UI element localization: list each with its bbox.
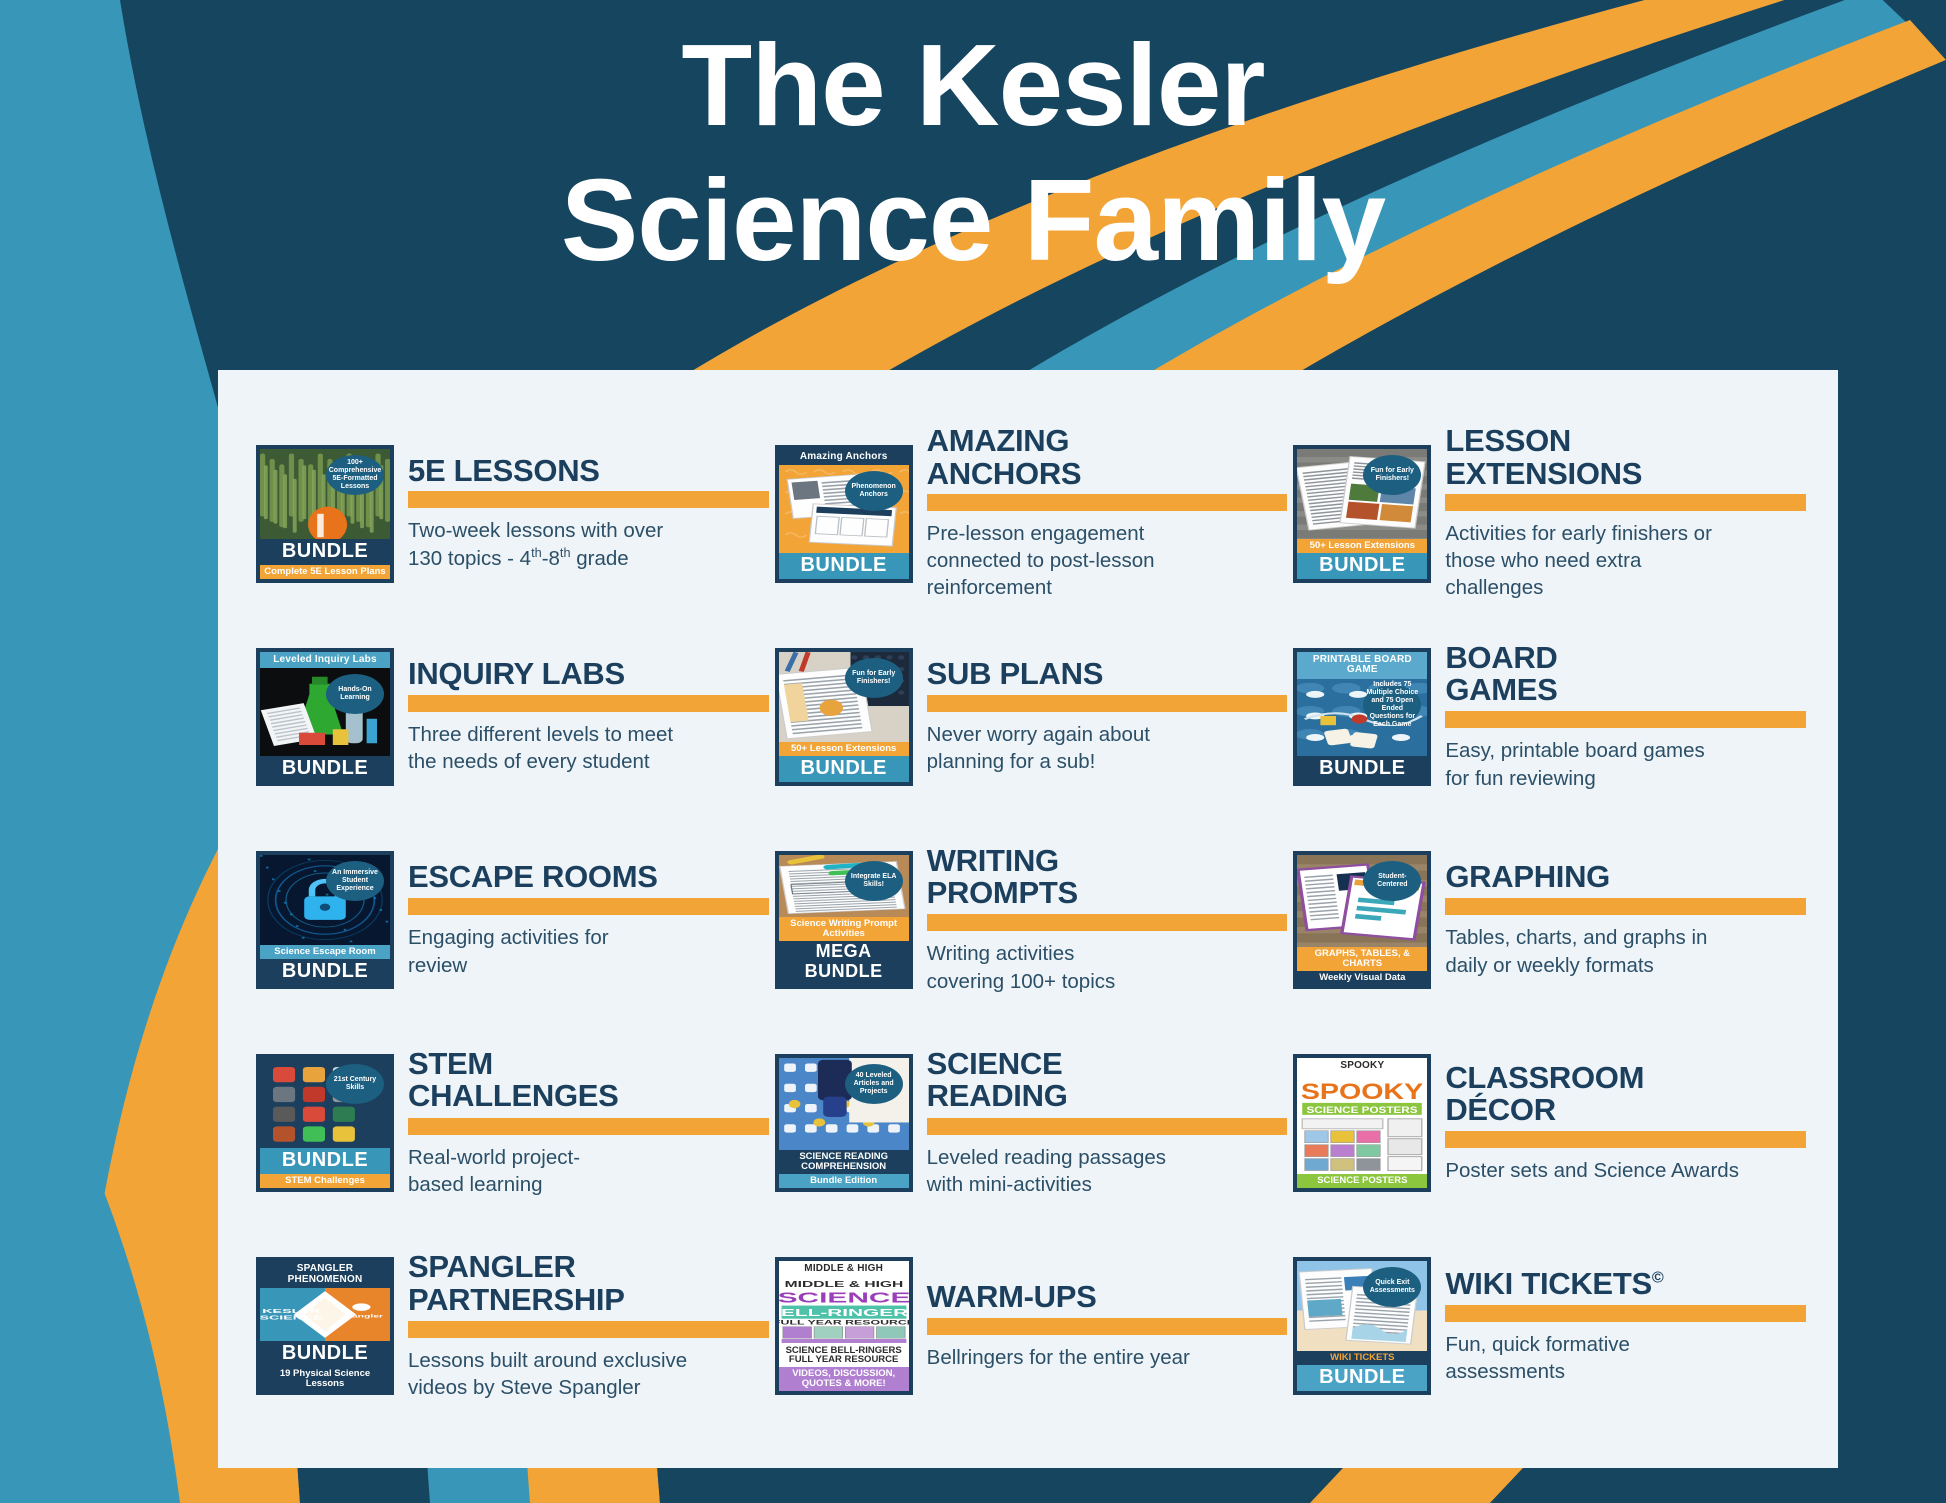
- product-description: Leveled reading passages with mini-activ…: [927, 1144, 1288, 1199]
- product-description: Activities for early finishers or those …: [1445, 520, 1806, 602]
- thumbnail-strip-label: WIKI TICKETS: [1297, 1351, 1427, 1365]
- product-thumbnail[interactable]: Quick Exit AssessmentsWIKI TICKETSBUNDLE: [1293, 1257, 1431, 1395]
- product-thumbnail[interactable]: MIDDLE & HIGH MIDDLE & HIGH SCIENCE BELL…: [775, 1257, 913, 1395]
- thumbnail-sub-label: Complete 5E Lesson Plans: [260, 565, 390, 579]
- thumbnail-artwork: 21st Century Skills: [260, 1058, 390, 1148]
- svg-text:MIDDLE & HIGH: MIDDLE & HIGH: [784, 1280, 903, 1289]
- thumbnail-artwork: SPOOKY SCIENCE POSTERS: [1297, 1075, 1427, 1175]
- product-description: Three different levels to meet the needs…: [408, 721, 769, 776]
- thumbnail-artwork: 100+ Comprehensive 5E-Formatted Lessons: [260, 449, 390, 539]
- thumbnail-strip-label: SCIENCE POSTERS: [1297, 1174, 1427, 1188]
- product-text-block: WIKI TICKETS©Fun, quick formative assess…: [1445, 1268, 1806, 1386]
- product-text-block: WARM-UPSBellringers for the entire year: [927, 1281, 1288, 1371]
- accent-rule: [408, 491, 769, 508]
- product-thumbnail[interactable]: Integrate ELA Skills!Science Writing Pro…: [775, 851, 913, 989]
- product-text-block: BOARD GAMESEasy, printable board games f…: [1445, 642, 1806, 792]
- thumbnail-top-label: MIDDLE & HIGH: [779, 1261, 909, 1278]
- accent-rule: [1445, 1131, 1806, 1148]
- product-thumbnail[interactable]: PRINTABLE BOARD GAME Includes 75 Multipl…: [1293, 648, 1431, 786]
- thumbnail-artwork: Fun for Early Finishers!: [1297, 449, 1427, 539]
- product-description: Bellringers for the entire year: [927, 1344, 1288, 1371]
- accent-rule: [408, 898, 769, 915]
- product-card[interactable]: 21st Century SkillsBUNDLESTEM Challenges…: [256, 1022, 775, 1225]
- product-text-block: SUB PLANSNever worry again about plannin…: [927, 658, 1288, 776]
- thumbnail-strip-label: Science Escape Room: [260, 945, 390, 959]
- product-description: Pre-lesson engagement connected to post-…: [927, 520, 1288, 602]
- svg-text:SCIENCE: SCIENCE: [260, 1315, 323, 1321]
- product-title: WARM-UPS: [927, 1281, 1288, 1313]
- product-title: LESSON EXTENSIONS: [1445, 425, 1806, 489]
- product-title: WIKI TICKETS©: [1445, 1268, 1806, 1300]
- thumbnail-artwork: Hands-On Learning: [260, 668, 390, 756]
- product-title: SCIENCE READING: [927, 1048, 1288, 1112]
- thumbnail-bundle-label: BUNDLE: [1297, 1365, 1427, 1391]
- thumbnail-bundle-label: BUNDLE: [260, 959, 390, 985]
- product-thumbnail[interactable]: Amazing Anchors Phenomenon AnchorsBUNDLE: [775, 445, 913, 583]
- product-thumbnail[interactable]: An Immersive Student ExperienceScience E…: [256, 851, 394, 989]
- accent-rule: [408, 695, 769, 712]
- product-card[interactable]: SPOOKY SPOOKY SCIENCE POSTERS SCIENCE PO…: [1293, 1022, 1812, 1225]
- thumbnail-badge: Phenomenon Anchors: [845, 471, 903, 511]
- product-title: ESCAPE ROOMS: [408, 861, 769, 893]
- thumbnail-sub-label: VIDEOS, DISCUSSION, QUOTES & MORE!: [779, 1367, 909, 1391]
- thumbnail-badge: Fun for Early Finishers!: [1363, 455, 1421, 495]
- product-description: Easy, printable board games for fun revi…: [1445, 737, 1806, 792]
- thumbnail-bundle-label: BUNDLE: [779, 756, 909, 782]
- product-thumbnail[interactable]: Leveled Inquiry Labs Hands-On LearningBU…: [256, 648, 394, 786]
- thumbnail-sub-label: 19 Physical Science Lessons: [260, 1367, 390, 1391]
- product-title: SPANGLER PARTNERSHIP: [408, 1251, 769, 1315]
- thumbnail-bundle-label: BUNDLE: [260, 1341, 390, 1367]
- product-description: Poster sets and Science Awards: [1445, 1157, 1806, 1184]
- product-title: CLASSROOM DÉCOR: [1445, 1062, 1806, 1126]
- thumbnail-artwork: Includes 75 Multiple Choice and 75 Open …: [1297, 679, 1427, 756]
- product-title: STEM CHALLENGES: [408, 1048, 769, 1112]
- product-description: Real-world project- based learning: [408, 1144, 769, 1199]
- product-thumbnail[interactable]: Student-CenteredGRAPHS, TABLES, & CHARTS…: [1293, 851, 1431, 989]
- product-title: INQUIRY LABS: [408, 658, 769, 690]
- thumbnail-badge: Integrate ELA Skills!: [845, 861, 903, 901]
- product-description: Tables, charts, and graphs in daily or w…: [1445, 924, 1806, 979]
- thumbnail-artwork: Quick Exit Assessments: [1297, 1261, 1427, 1351]
- thumbnail-artwork: Integrate ELA Skills!: [779, 855, 909, 917]
- product-description: Never worry again about planning for a s…: [927, 721, 1288, 776]
- product-card[interactable]: Amazing Anchors Phenomenon AnchorsBUNDLE…: [775, 412, 1294, 615]
- product-card[interactable]: Integrate ELA Skills!Science Writing Pro…: [775, 818, 1294, 1021]
- product-text-block: INQUIRY LABSThree different levels to me…: [408, 658, 769, 776]
- thumbnail-artwork: 40 Leveled Articles and Projects: [779, 1058, 909, 1150]
- accent-rule: [1445, 711, 1806, 728]
- product-thumbnail[interactable]: 100+ Comprehensive 5E-Formatted LessonsB…: [256, 445, 394, 583]
- product-text-block: CLASSROOM DÉCORPoster sets and Science A…: [1445, 1062, 1806, 1185]
- svg-text:SPOOKY: SPOOKY: [1301, 1080, 1423, 1104]
- product-card[interactable]: Leveled Inquiry Labs Hands-On LearningBU…: [256, 615, 775, 818]
- accent-rule: [927, 914, 1288, 931]
- thumbnail-top-label: SPANGLER PHENOMENON: [260, 1261, 390, 1288]
- thumbnail-sub-label: Bundle Edition: [779, 1174, 909, 1188]
- product-thumbnail[interactable]: SPANGLER PHENOMENON KESLER SCIENCE spang…: [256, 1257, 394, 1395]
- product-card[interactable]: 40 Leveled Articles and ProjectsSCIENCE …: [775, 1022, 1294, 1225]
- product-card[interactable]: An Immersive Student ExperienceScience E…: [256, 818, 775, 1021]
- product-title: BOARD GAMES: [1445, 642, 1806, 706]
- product-card[interactable]: Fun for Early Finishers!50+ Lesson Exten…: [775, 615, 1294, 818]
- product-thumbnail[interactable]: 21st Century SkillsBUNDLESTEM Challenges: [256, 1054, 394, 1192]
- thumbnail-bundle-label: MEGA BUNDLE: [779, 941, 909, 985]
- thumbnail-bundle-label: BUNDLE: [260, 756, 390, 782]
- thumbnail-badge: An Immersive Student Experience: [326, 861, 384, 901]
- accent-rule: [408, 1118, 769, 1135]
- product-description: Two-week lessons with over 130 topics - …: [408, 517, 769, 572]
- product-text-block: LESSON EXTENSIONSActivities for early fi…: [1445, 425, 1806, 601]
- thumbnail-badge: 40 Leveled Articles and Projects: [845, 1064, 903, 1104]
- product-title: AMAZING ANCHORS: [927, 425, 1288, 489]
- thumbnail-sub-label: Weekly Visual Data: [1297, 971, 1427, 985]
- product-text-block: ESCAPE ROOMSEngaging activities for revi…: [408, 861, 769, 979]
- svg-text:SCIENCE: SCIENCE: [779, 1289, 909, 1306]
- product-description: Lessons built around exclusive videos by…: [408, 1347, 769, 1402]
- thumbnail-strip-label: 50+ Lesson Extensions: [779, 742, 909, 756]
- product-text-block: AMAZING ANCHORSPre-lesson engagement con…: [927, 425, 1288, 601]
- accent-rule: [1445, 1305, 1806, 1322]
- thumbnail-badge: Student-Centered: [1363, 861, 1421, 901]
- accent-rule: [927, 1318, 1288, 1335]
- product-card[interactable]: Quick Exit AssessmentsWIKI TICKETSBUNDLE…: [1293, 1225, 1812, 1428]
- thumbnail-artwork: KESLER SCIENCE spangler: [260, 1288, 390, 1341]
- thumbnail-artwork: An Immersive Student Experience: [260, 855, 390, 945]
- svg-text:FULL YEAR RESOURCE: FULL YEAR RESOURCE: [779, 1319, 909, 1326]
- thumbnail-sub-label: STEM Challenges: [260, 1174, 390, 1188]
- product-title: GRAPHING: [1445, 861, 1806, 893]
- accent-rule: [408, 1321, 769, 1338]
- thumbnail-strip-label: GRAPHS, TABLES, & CHARTS: [1297, 947, 1427, 971]
- thumbnail-bundle-label: BUNDLE: [260, 1148, 390, 1174]
- product-text-block: SPANGLER PARTNERSHIPLessons built around…: [408, 1251, 769, 1401]
- thumbnail-bundle-label: BUNDLE: [1297, 756, 1427, 782]
- thumbnail-top-label: PRINTABLE BOARD GAME: [1297, 652, 1427, 679]
- product-thumbnail[interactable]: Fun for Early Finishers!50+ Lesson Exten…: [1293, 445, 1431, 583]
- content-panel: 100+ Comprehensive 5E-Formatted LessonsB…: [218, 370, 1838, 1468]
- thumbnail-artwork: Phenomenon Anchors: [779, 465, 909, 553]
- thumbnail-strip-label: SCIENCE READING COMPREHENSION: [779, 1150, 909, 1174]
- product-card[interactable]: PRINTABLE BOARD GAME Includes 75 Multipl…: [1293, 615, 1812, 818]
- thumbnail-artwork: Student-Centered: [1297, 855, 1427, 947]
- thumbnail-bundle-label: BUNDLE: [779, 553, 909, 579]
- product-description: Fun, quick formative assessments: [1445, 1331, 1806, 1386]
- accent-rule: [1445, 898, 1806, 915]
- product-card[interactable]: MIDDLE & HIGH MIDDLE & HIGH SCIENCE BELL…: [775, 1225, 1294, 1428]
- thumbnail-top-label: Leveled Inquiry Labs: [260, 652, 390, 669]
- thumbnail-bundle-label: BUNDLE: [260, 539, 390, 565]
- thumbnail-bundle-label: BUNDLE: [1297, 553, 1427, 579]
- accent-rule: [927, 695, 1288, 712]
- product-description: Writing activities covering 100+ topics: [927, 940, 1288, 995]
- thumbnail-top-label: Amazing Anchors: [779, 449, 909, 466]
- product-thumbnail[interactable]: 40 Leveled Articles and ProjectsSCIENCE …: [775, 1054, 913, 1192]
- thumbnail-strip-label: SCIENCE BELL-RINGERS FULL YEAR RESOURCE: [779, 1344, 909, 1368]
- svg-text:BELL-RINGERS: BELL-RINGERS: [779, 1307, 909, 1318]
- ordinal-suffix: th: [560, 545, 571, 560]
- thumbnail-top-label: SPOOKY: [1297, 1058, 1427, 1075]
- thumbnail-artwork: Fun for Early Finishers!: [779, 652, 909, 742]
- thumbnail-strip-label: 50+ Lesson Extensions: [1297, 539, 1427, 553]
- product-thumbnail[interactable]: Fun for Early Finishers!50+ Lesson Exten…: [775, 648, 913, 786]
- thumbnail-strip-label: Science Writing Prompt Activities: [779, 917, 909, 941]
- product-text-block: SCIENCE READINGLeveled reading passages …: [927, 1048, 1288, 1198]
- svg-text:SCIENCE POSTERS: SCIENCE POSTERS: [1307, 1106, 1418, 1115]
- thumbnail-badge: Includes 75 Multiple Choice and 75 Open …: [1363, 685, 1421, 725]
- ordinal-suffix: th: [531, 545, 542, 560]
- thumbnail-artwork: MIDDLE & HIGH SCIENCE BELL-RINGERS FULL …: [779, 1278, 909, 1344]
- accent-rule: [927, 1118, 1288, 1135]
- thumbnail-badge: Hands-On Learning: [326, 674, 384, 714]
- product-description: Engaging activities for review: [408, 924, 769, 979]
- product-text-block: STEM CHALLENGESReal-world project- based…: [408, 1048, 769, 1198]
- product-card[interactable]: Fun for Early Finishers!50+ Lesson Exten…: [1293, 412, 1812, 615]
- product-title: WRITING PROMPTS: [927, 845, 1288, 909]
- product-card[interactable]: Student-CenteredGRAPHS, TABLES, & CHARTS…: [1293, 818, 1812, 1021]
- svg-text:spangler: spangler: [340, 1314, 383, 1319]
- accent-rule: [927, 494, 1288, 511]
- product-card[interactable]: 100+ Comprehensive 5E-Formatted LessonsB…: [256, 412, 775, 615]
- product-grid: 100+ Comprehensive 5E-Formatted LessonsB…: [256, 412, 1812, 1428]
- thumbnail-badge: 100+ Comprehensive 5E-Formatted Lessons: [326, 455, 384, 495]
- product-title: SUB PLANS: [927, 658, 1288, 690]
- accent-rule: [1445, 494, 1806, 511]
- thumbnail-badge: Fun for Early Finishers!: [845, 658, 903, 698]
- product-text-block: GRAPHINGTables, charts, and graphs in da…: [1445, 861, 1806, 979]
- copyright-symbol: ©: [1652, 1268, 1664, 1286]
- product-thumbnail[interactable]: SPOOKY SPOOKY SCIENCE POSTERS SCIENCE PO…: [1293, 1054, 1431, 1192]
- product-text-block: 5E LESSONSTwo-week lessons with over 130…: [408, 455, 769, 572]
- product-text-block: WRITING PROMPTSWriting activities coveri…: [927, 845, 1288, 995]
- thumbnail-badge: 21st Century Skills: [326, 1064, 384, 1104]
- product-card[interactable]: SPANGLER PHENOMENON KESLER SCIENCE spang…: [256, 1225, 775, 1428]
- product-title: 5E LESSONS: [408, 455, 769, 487]
